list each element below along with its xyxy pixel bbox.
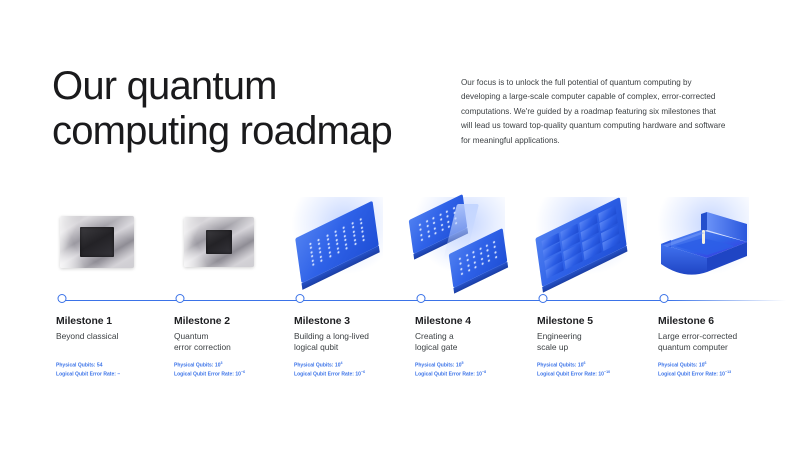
illustration-milestone-4 bbox=[398, 196, 520, 288]
error-rate-label: Logical Qubit Error Rate: bbox=[537, 371, 597, 377]
milestone-card-6[interactable]: Milestone 6 Large error-corrected quantu… bbox=[658, 316, 782, 379]
physical-qubits-stat: Physical Qubits: 106 bbox=[537, 361, 661, 370]
physical-qubits-exponent: 3 bbox=[221, 361, 223, 365]
illustration-row bbox=[0, 196, 800, 288]
physical-qubits-exponent: 5 bbox=[462, 361, 464, 365]
roadmap-slide: Our quantum computing roadmap Our focus … bbox=[0, 0, 800, 450]
timeline-dot-milestone-1[interactable] bbox=[58, 294, 67, 303]
timeline-dot-milestone-3[interactable] bbox=[296, 294, 305, 303]
error-rate-value: – bbox=[117, 371, 120, 377]
page-title: Our quantum computing roadmap bbox=[52, 64, 442, 154]
chip-die bbox=[206, 230, 232, 254]
milestone-stats: Physical Qubits: 54 Logical Qubit Error … bbox=[56, 361, 180, 379]
physical-qubits-value: 54 bbox=[97, 363, 103, 369]
illustration-milestone-5 bbox=[520, 196, 642, 288]
milestone-description: Creating a logical gate bbox=[415, 331, 539, 354]
milestone-description: Large error-corrected quantum computer bbox=[658, 331, 782, 354]
error-rate-stat: Logical Qubit Error Rate: 10−10 bbox=[537, 370, 661, 379]
milestone-card-5[interactable]: Milestone 5 Engineering scale up Physica… bbox=[537, 316, 661, 379]
error-rate-label: Logical Qubit Error Rate: bbox=[415, 371, 475, 377]
milestone-card-4[interactable]: Milestone 4 Creating a logical gate Phys… bbox=[415, 316, 539, 379]
intro-paragraph: Our focus is to unlock the full potentia… bbox=[461, 76, 729, 148]
milestone-name: Milestone 6 bbox=[658, 316, 782, 327]
tiled-qubit-array-icon bbox=[535, 197, 626, 287]
physical-qubits-stat: Physical Qubits: 103 bbox=[174, 361, 298, 370]
physical-qubits-exponent: 4 bbox=[341, 361, 343, 365]
timeline bbox=[0, 294, 800, 308]
illustration-milestone-6 bbox=[642, 196, 764, 288]
timeline-dot-milestone-2[interactable] bbox=[176, 294, 185, 303]
error-rate-stat: Logical Qubit Error Rate: 10−6 bbox=[174, 370, 298, 379]
milestone-description: Beyond classical bbox=[56, 331, 180, 354]
physical-qubits-stat: Physical Qubits: 106 bbox=[658, 361, 782, 370]
error-rate-exponent: −13 bbox=[725, 370, 731, 374]
milestone-stats: Physical Qubits: 104 Logical Qubit Error… bbox=[294, 361, 418, 379]
physical-qubits-label: Physical Qubits: bbox=[294, 363, 334, 369]
chip-die bbox=[80, 227, 114, 257]
milestone-stats: Physical Qubits: 105 Logical Qubit Error… bbox=[415, 361, 539, 379]
error-rate-stat: Logical Qubit Error Rate: – bbox=[56, 370, 180, 379]
error-rate-label: Logical Qubit Error Rate: bbox=[294, 371, 354, 377]
milestone-name: Milestone 3 bbox=[294, 316, 418, 327]
physical-qubits-label: Physical Qubits: bbox=[56, 363, 96, 369]
metallic-chip-package-icon bbox=[184, 217, 254, 267]
physical-qubits-label: Physical Qubits: bbox=[658, 363, 698, 369]
milestone-stats: Physical Qubits: 106 Logical Qubit Error… bbox=[658, 361, 782, 379]
physical-qubits-exponent: 6 bbox=[705, 361, 707, 365]
error-rate-exponent: −6 bbox=[241, 370, 245, 374]
metallic-chip-package-icon bbox=[60, 216, 134, 268]
physical-qubits-exponent: 6 bbox=[584, 361, 586, 365]
timeline-dot-milestone-5[interactable] bbox=[539, 294, 548, 303]
illustration-milestone-1 bbox=[36, 196, 158, 288]
milestone-card-2[interactable]: Milestone 2 Quantum error correction Phy… bbox=[174, 316, 298, 379]
physical-qubits-stat: Physical Qubits: 54 bbox=[56, 361, 180, 370]
error-rate-label: Logical Qubit Error Rate: bbox=[56, 371, 116, 377]
physical-qubits-stat: Physical Qubits: 104 bbox=[294, 361, 418, 370]
error-rate-exponent: −10 bbox=[604, 370, 610, 374]
physical-qubits-label: Physical Qubits: bbox=[415, 363, 455, 369]
physical-qubits-label: Physical Qubits: bbox=[537, 363, 577, 369]
milestone-stats: Physical Qubits: 106 Logical Qubit Error… bbox=[537, 361, 661, 379]
error-rate-exponent: −6 bbox=[361, 370, 365, 374]
illustration-milestone-2 bbox=[158, 196, 280, 288]
illustration-milestone-3 bbox=[276, 196, 398, 288]
physical-qubits-stat: Physical Qubits: 105 bbox=[415, 361, 539, 370]
milestone-name: Milestone 2 bbox=[174, 316, 298, 327]
physical-qubits-label: Physical Qubits: bbox=[174, 363, 214, 369]
timeline-dot-milestone-4[interactable] bbox=[417, 294, 426, 303]
error-rate-label: Logical Qubit Error Rate: bbox=[174, 371, 234, 377]
timeline-dot-milestone-6[interactable] bbox=[660, 294, 669, 303]
error-rate-stat: Logical Qubit Error Rate: 10−6 bbox=[294, 370, 418, 379]
milestone-card-1[interactable]: Milestone 1 Beyond classical Physical Qu… bbox=[56, 316, 180, 379]
error-rate-label: Logical Qubit Error Rate: bbox=[658, 371, 718, 377]
milestone-description: Quantum error correction bbox=[174, 331, 298, 354]
milestone-stats: Physical Qubits: 103 Logical Qubit Error… bbox=[174, 361, 298, 379]
milestone-description: Engineering scale up bbox=[537, 331, 661, 354]
milestone-name: Milestone 1 bbox=[56, 316, 180, 327]
milestone-name: Milestone 4 bbox=[415, 316, 539, 327]
isometric-qubit-slab-icon bbox=[295, 201, 379, 284]
milestone-name: Milestone 5 bbox=[537, 316, 661, 327]
error-rate-exponent: −8 bbox=[482, 370, 486, 374]
error-rate-stat: Logical Qubit Error Rate: 10−13 bbox=[658, 370, 782, 379]
cryostat-chamber-icon bbox=[651, 202, 755, 282]
milestone-description: Building a long-lived logical qubit bbox=[294, 331, 418, 354]
error-rate-stat: Logical Qubit Error Rate: 10−8 bbox=[415, 370, 539, 379]
milestone-card-3[interactable]: Milestone 3 Building a long-lived logica… bbox=[294, 316, 418, 379]
